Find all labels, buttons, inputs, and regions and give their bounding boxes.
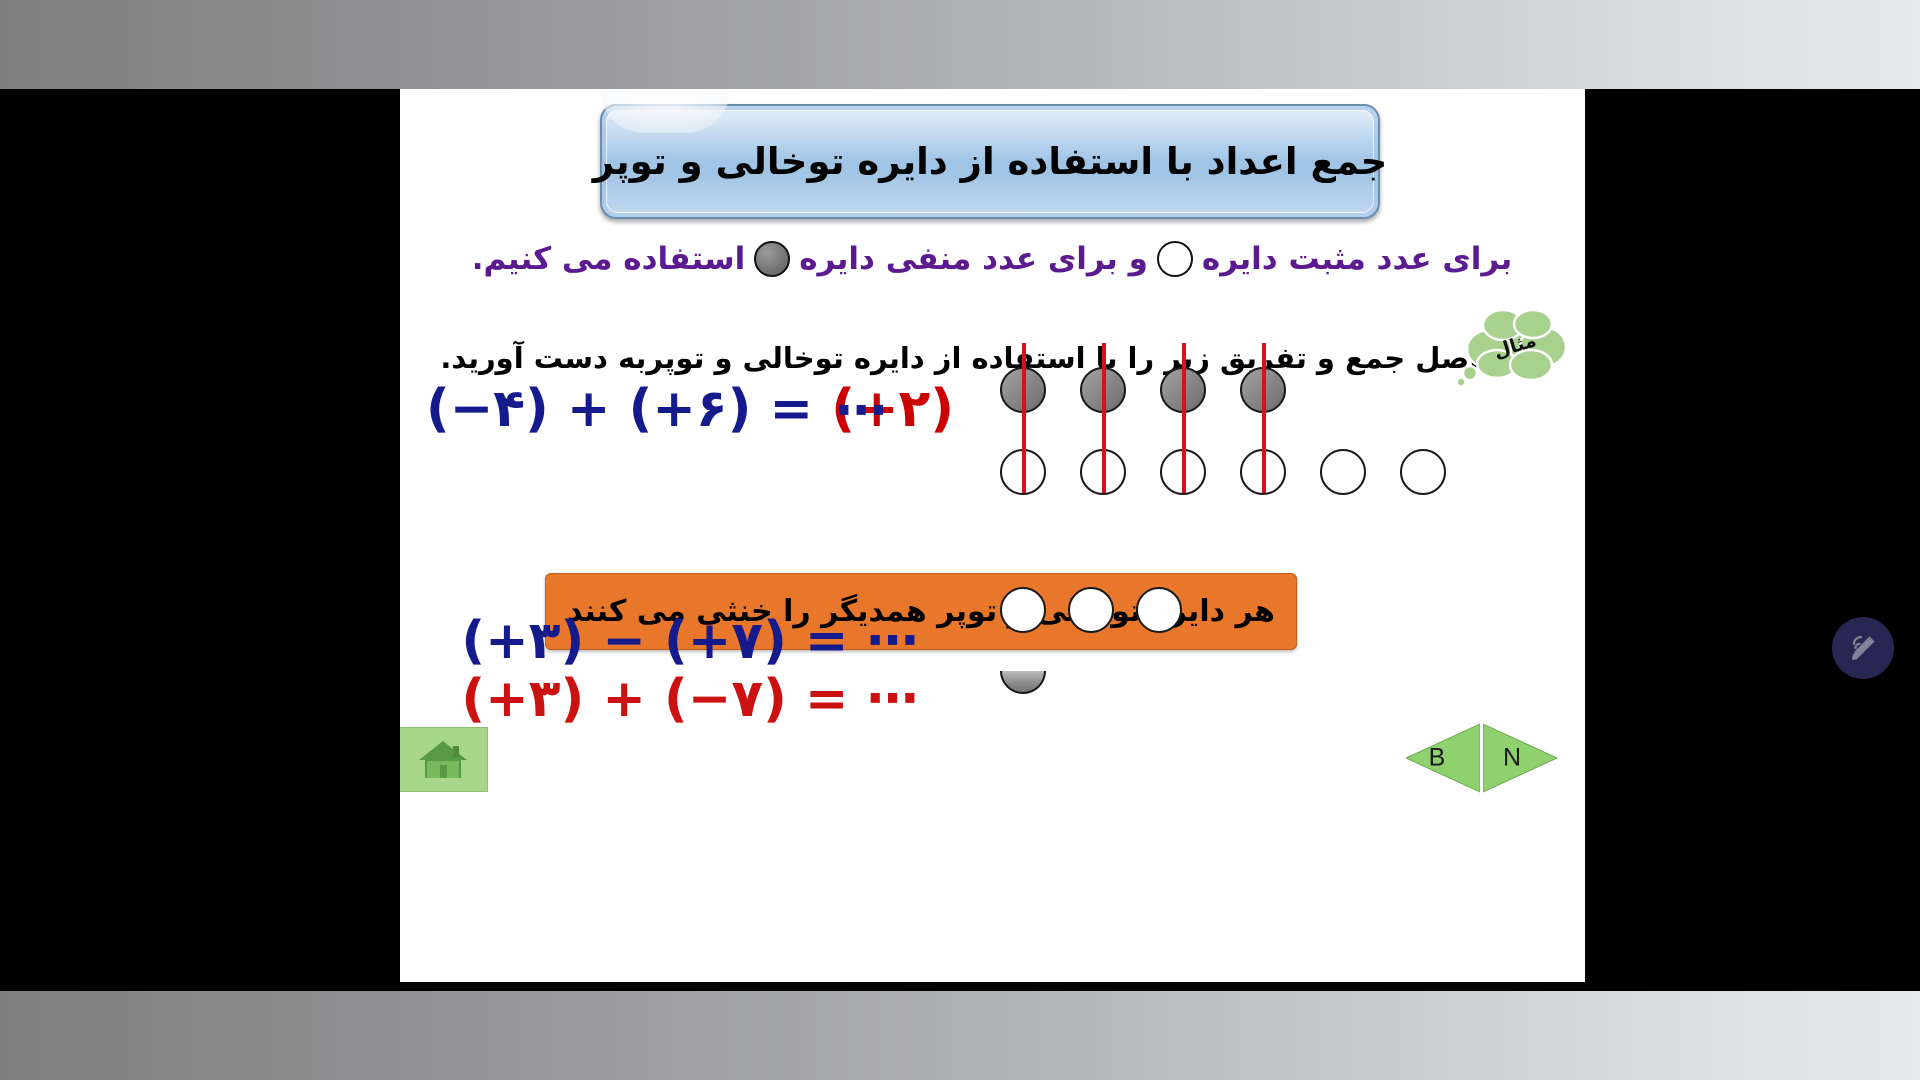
nav-back-button[interactable]: B — [1406, 723, 1480, 793]
screen-root: جمع اعداد با استفاده از دایره توخالی و ت… — [0, 0, 1920, 1080]
open-circle-icon — [1157, 241, 1193, 277]
circle-diagram-top — [1000, 339, 1430, 489]
slide-canvas: جمع اعداد با استفاده از دایره توخالی و ت… — [400, 89, 1585, 982]
home-button[interactable] — [400, 727, 488, 792]
rule-text-part3: استفاده می کنیم. — [472, 241, 746, 277]
home-icon — [417, 738, 469, 782]
rule-text-part2: و برای عدد منفی دایره — [799, 241, 1148, 277]
rule-statement: برای عدد مثبت دایره و برای عدد منفی دایر… — [427, 241, 1557, 277]
title-banner: جمع اعداد با استفاده از دایره توخالی و ت… — [600, 104, 1380, 219]
bottom-open-circle-3 — [1136, 587, 1182, 633]
cancel-strike-1 — [1022, 343, 1026, 493]
filled-circle-icon — [754, 241, 790, 277]
equation-two: (+۳) − (+۷) = ⋯ — [420, 611, 960, 671]
triangle-right-icon — [1483, 723, 1557, 793]
bottom-gradient-band — [0, 991, 1920, 1080]
triangle-left-icon — [1406, 723, 1480, 793]
equation-three: (+۳) + (−۷) = ⋯ — [420, 669, 960, 729]
equation-one: (−۴) + (+۶) = ⋯(+۲) — [420, 379, 960, 439]
cancel-strike-4 — [1262, 343, 1266, 493]
equation-one-lhs: (−۴) + (+۶) = — [426, 379, 831, 439]
bottom-open-circle-2 — [1068, 587, 1114, 633]
bottom-open-circle-1 — [1000, 587, 1046, 633]
bottom-half-filled-circle-1 — [1000, 671, 1046, 694]
page-title: جمع اعداد با استفاده از دایره توخالی و ت… — [593, 140, 1388, 183]
nav-next-button[interactable]: N — [1483, 723, 1557, 793]
cancel-strike-2 — [1102, 343, 1106, 493]
equation-one-rhs: ⋯(+۲) — [831, 379, 954, 439]
open-circle-5 — [1320, 449, 1366, 495]
top-gradient-band — [0, 0, 1920, 89]
cancel-strike-3 — [1182, 343, 1186, 493]
circle-diagram-bottom — [1000, 587, 1260, 727]
open-circle-6 — [1400, 449, 1446, 495]
title-banner-inner: جمع اعداد با استفاده از دایره توخالی و ت… — [606, 110, 1374, 213]
equation-one-dots: ⋯ — [835, 381, 887, 441]
example-badge-cloud: مثال — [1451, 307, 1579, 395]
pen-tool-button[interactable] — [1832, 617, 1894, 679]
wireless-pen-icon — [1845, 630, 1881, 666]
rule-text-part1: برای عدد مثبت دایره — [1202, 241, 1512, 277]
